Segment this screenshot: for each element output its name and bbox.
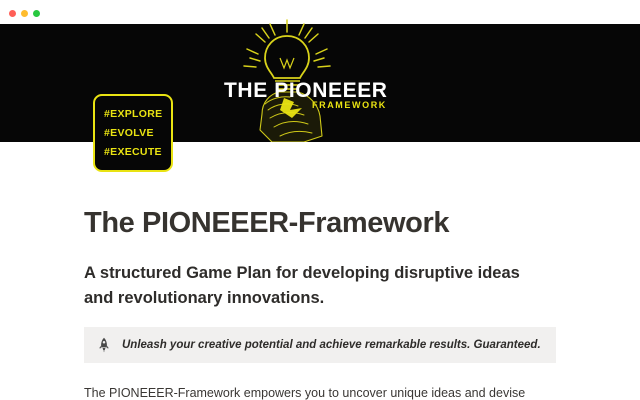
- page-title: The PIONEEER-Framework: [84, 208, 449, 240]
- logo-title: THE PIONEEER: [224, 80, 388, 101]
- main-content: The PIONEEER-Framework A structured Game…: [0, 142, 640, 400]
- browser-window: THE PIONEEER FRAMEWORK #EXPLORE #EVOLVE …: [0, 0, 640, 400]
- rocket-icon: [96, 337, 112, 353]
- logo-subtitle: FRAMEWORK: [312, 101, 387, 110]
- bulb-glass: [265, 36, 309, 78]
- traffic-light-controls: [9, 10, 40, 17]
- maximize-button[interactable]: [33, 10, 40, 17]
- hashtag-evolve: #EVOLVE: [104, 124, 171, 143]
- body-paragraph: The PIONEEER-Framework empowers you to u…: [84, 384, 554, 400]
- minimize-button[interactable]: [21, 10, 28, 17]
- callout-box: Unleash your creative potential and achi…: [84, 327, 556, 363]
- close-button[interactable]: [9, 10, 16, 17]
- hashtag-execute: #EXECUTE: [104, 143, 171, 162]
- page-subtitle: A structured Game Plan for developing di…: [84, 261, 534, 311]
- hashtag-badge: #EXPLORE #EVOLVE #EXECUTE: [93, 94, 173, 172]
- hashtag-explore: #EXPLORE: [104, 105, 171, 124]
- callout-text: Unleash your creative potential and achi…: [122, 338, 541, 353]
